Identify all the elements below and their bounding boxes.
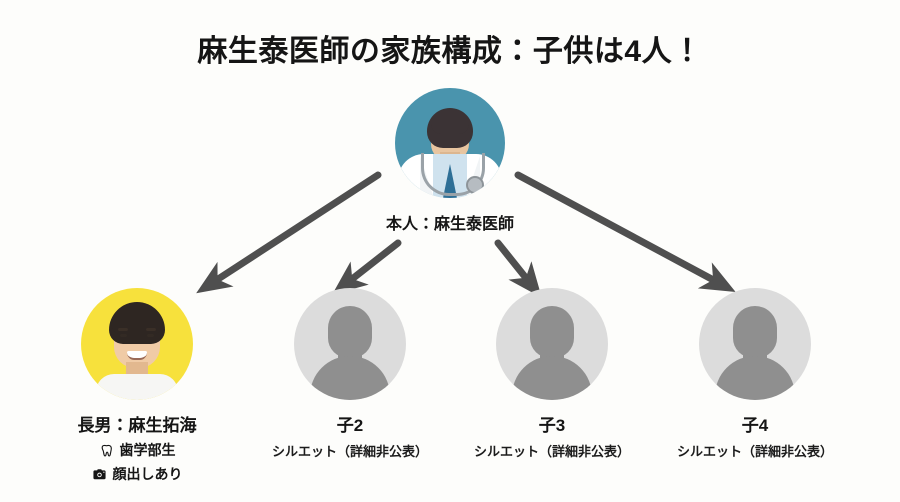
son-eye-left-shape <box>120 334 127 337</box>
child-1-detail-2: 顔出しあり <box>27 464 247 484</box>
doctor-avatar-icon <box>395 88 505 198</box>
silhouette-avatar-icon <box>699 288 811 400</box>
son-hair-shape <box>109 302 165 344</box>
son-eye-right-shape <box>147 334 154 337</box>
silhouette-body-shape <box>310 356 390 400</box>
child-2-subtitle: シルエット（詳細非公表） <box>240 441 460 460</box>
page-title: 麻生泰医師の家族構成：子供は4人！ <box>0 26 900 70</box>
doctor-hair-shape <box>427 108 473 148</box>
silhouette-avatar-icon <box>294 288 406 400</box>
node-child-3[interactable]: 子3 シルエット（詳細非公表） <box>442 288 662 460</box>
son-eyebrow-right-shape <box>146 328 156 331</box>
child-2-name: 子2 <box>240 411 460 436</box>
son-shirt-shape <box>96 374 178 400</box>
child-4-subtitle: シルエット（詳細非公表） <box>645 441 865 460</box>
silhouette-body-shape <box>715 356 795 400</box>
stethoscope-bell-icon <box>466 176 484 194</box>
node-child-2[interactable]: 子2 シルエット（詳細非公表） <box>240 288 460 460</box>
node-child-1[interactable]: 長男：麻生拓海 歯学部生 顔出しあり <box>27 288 247 484</box>
node-child-4[interactable]: 子4 シルエット（詳細非公表） <box>645 288 865 460</box>
root-label: 本人：麻生泰医師 <box>330 210 570 234</box>
silhouette-avatar-icon <box>496 288 608 400</box>
child-4-name: 子4 <box>645 411 865 436</box>
node-root-doctor[interactable]: 本人：麻生泰医師 <box>330 88 570 234</box>
child-3-name: 子3 <box>442 411 662 436</box>
child-1-detail-2-text: 顔出しあり <box>113 464 183 484</box>
child-1-name: 長男：麻生拓海 <box>27 411 247 436</box>
son-eyebrow-left-shape <box>118 328 128 331</box>
child-1-detail-1-text: 歯学部生 <box>120 440 176 460</box>
arrow-to-child-2 <box>347 243 398 283</box>
infographic-canvas: 麻生泰医師の家族構成：子供は4人！ 本人：麻生泰医師 <box>0 0 900 502</box>
child-1-detail-1: 歯学部生 <box>27 440 247 460</box>
silhouette-body-shape <box>512 356 592 400</box>
camera-icon <box>92 466 108 482</box>
tooth-icon <box>99 442 115 458</box>
photo-portrait-avatar-icon <box>81 288 193 400</box>
arrow-to-child-3 <box>498 243 530 283</box>
child-3-subtitle: シルエット（詳細非公表） <box>442 441 662 460</box>
